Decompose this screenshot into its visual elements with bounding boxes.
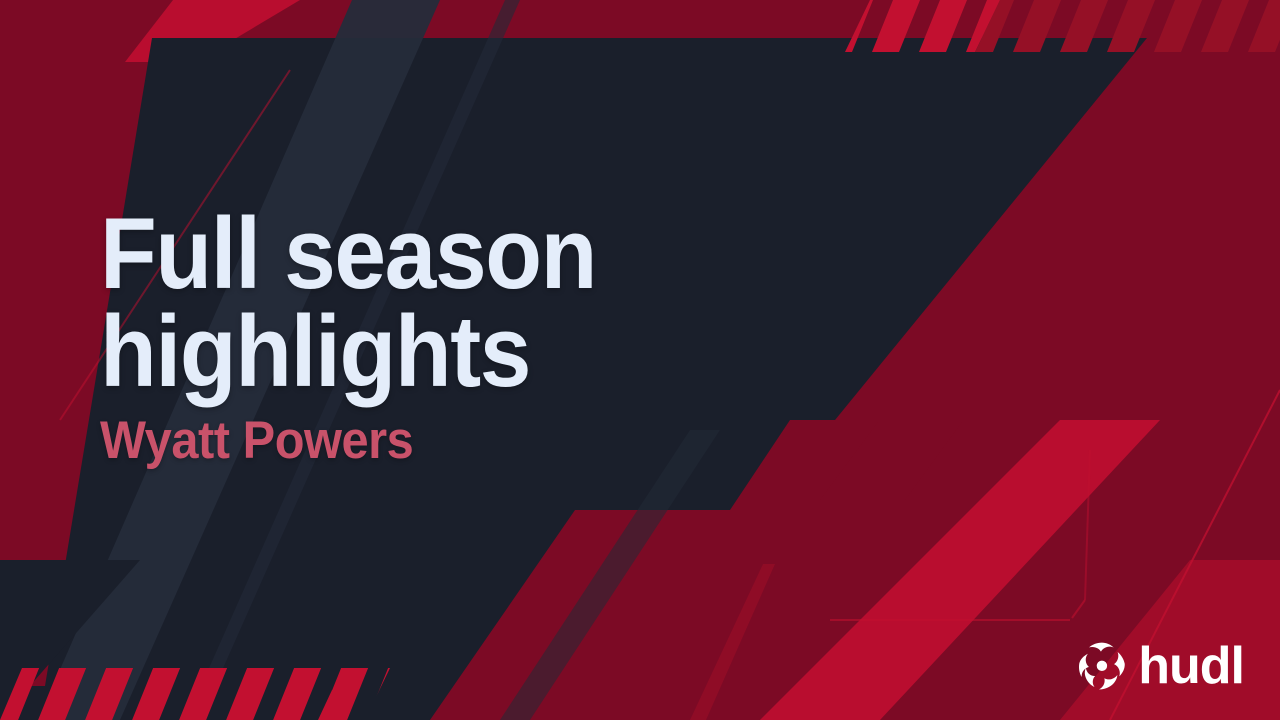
hudl-wordmark: hudl	[1138, 640, 1244, 692]
page-title: Full season highlights	[100, 206, 689, 402]
hudl-logo-icon	[1076, 640, 1128, 692]
hudl-logo: hudl	[1076, 640, 1244, 692]
title-block: Full season highlights Wyatt Powers	[100, 206, 740, 467]
stripe-band-bottom-left	[0, 660, 420, 720]
highlight-title-card: Full season highlights Wyatt Powers hudl	[0, 0, 1280, 720]
athlete-name: Wyatt Powers	[100, 414, 689, 467]
